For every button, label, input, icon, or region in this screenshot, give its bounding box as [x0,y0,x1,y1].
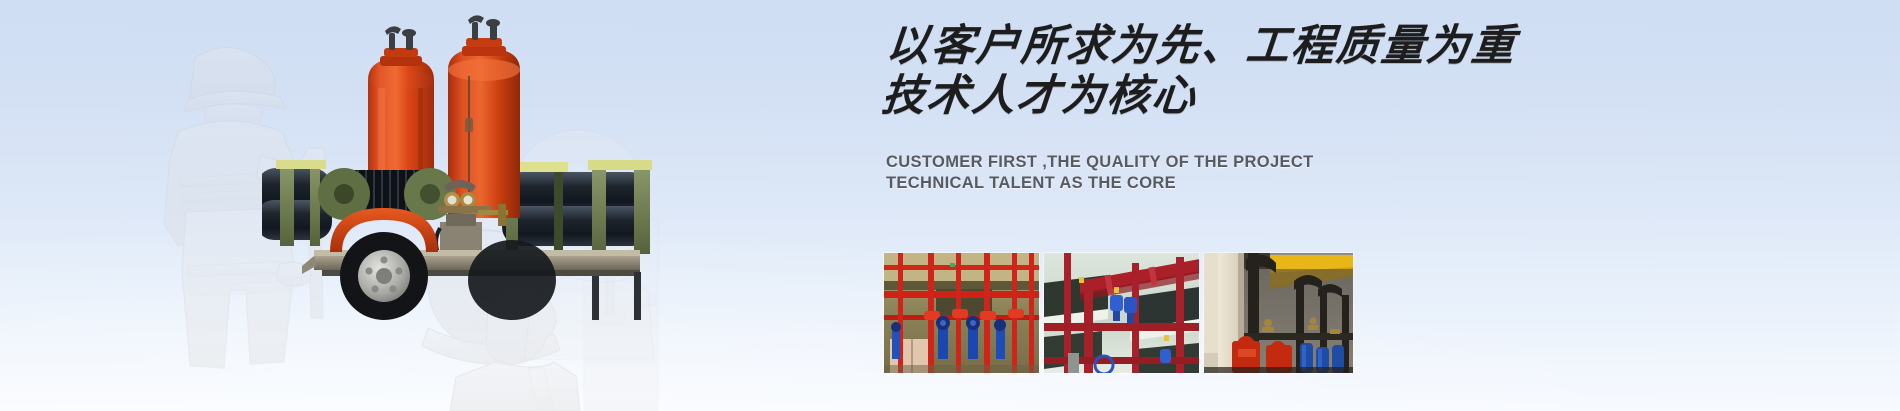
banner-content: 以客户所求为先、工程质量为重 技术人才为核心 CUSTOMER FIRST ,T… [884,0,1584,411]
hero-banner: 以客户所求为先、工程质量为重 技术人才为核心 CUSTOMER FIRST ,T… [0,0,1900,411]
thumbnail-strip [884,253,1353,373]
product-photo-fire-trailer [262,14,676,320]
thumb-sprinkler-riser-room[interactable] [884,253,1039,373]
thumb-red-pipe-gallery[interactable] [1044,253,1199,373]
headline-chinese: 以客户所求为先、工程质量为重 技术人才为核心 [880,22,1549,122]
subheadline-english: CUSTOMER FIRST ,THE QUALITY OF THE PROJE… [886,152,1546,194]
thumb-pump-room[interactable] [1204,253,1353,373]
